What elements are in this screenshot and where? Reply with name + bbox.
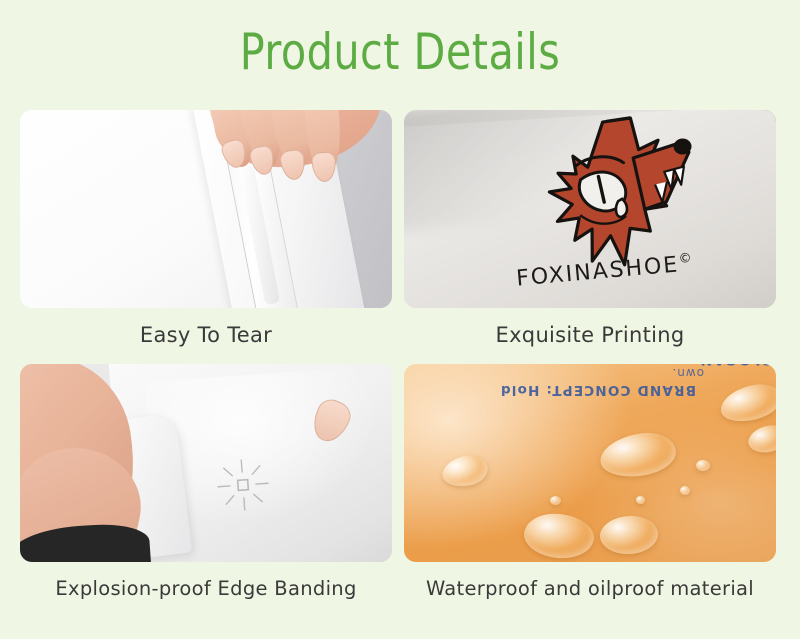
water-droplet — [636, 496, 645, 504]
feature-photo-easy-to-tear — [20, 110, 392, 308]
printed-brand-concept-tail: own. — [524, 366, 704, 380]
feature-card-exquisite-printing[interactable]: FOXINASHOE© Exquisite Printing — [404, 110, 776, 354]
feature-caption-exquisite-printing: Exquisite Printing — [404, 316, 776, 354]
water-droplet — [696, 460, 710, 471]
feature-card-waterproof-and-oilproof-material[interactable]: SLOGAN: own. BRAND CONCEPT: Hold Waterpr… — [404, 364, 776, 608]
water-droplet — [550, 496, 561, 505]
feature-photo-exquisite-printing: FOXINASHOE© — [404, 110, 776, 308]
feature-caption-waterproof-and-oilproof-material: Waterproof and oilproof material — [404, 570, 776, 608]
sparkle-icon — [214, 456, 272, 514]
printed-brand-concept-text: BRAND CONCEPT: Hold — [406, 382, 696, 398]
feature-photo-explosion-proof-edge-banding — [20, 364, 392, 562]
feature-caption-explosion-proof-edge-banding: Explosion-proof Edge Banding — [20, 570, 392, 608]
feature-card-easy-to-tear[interactable]: Easy To Tear — [20, 110, 392, 354]
water-droplet — [680, 486, 690, 495]
feature-card-explosion-proof-edge-banding[interactable]: Explosion-proof Edge Banding — [20, 364, 392, 608]
feature-caption-easy-to-tear: Easy To Tear — [20, 316, 392, 354]
page-title: Product Details — [32, 22, 768, 82]
feature-grid: Easy To Tear — [20, 110, 780, 615]
feature-photo-waterproof-and-oilproof-material: SLOGAN: own. BRAND CONCEPT: Hold — [404, 364, 776, 562]
copyright-icon: © — [678, 251, 694, 267]
product-details-infographic: Product Details Easy To Tear — [0, 0, 800, 639]
